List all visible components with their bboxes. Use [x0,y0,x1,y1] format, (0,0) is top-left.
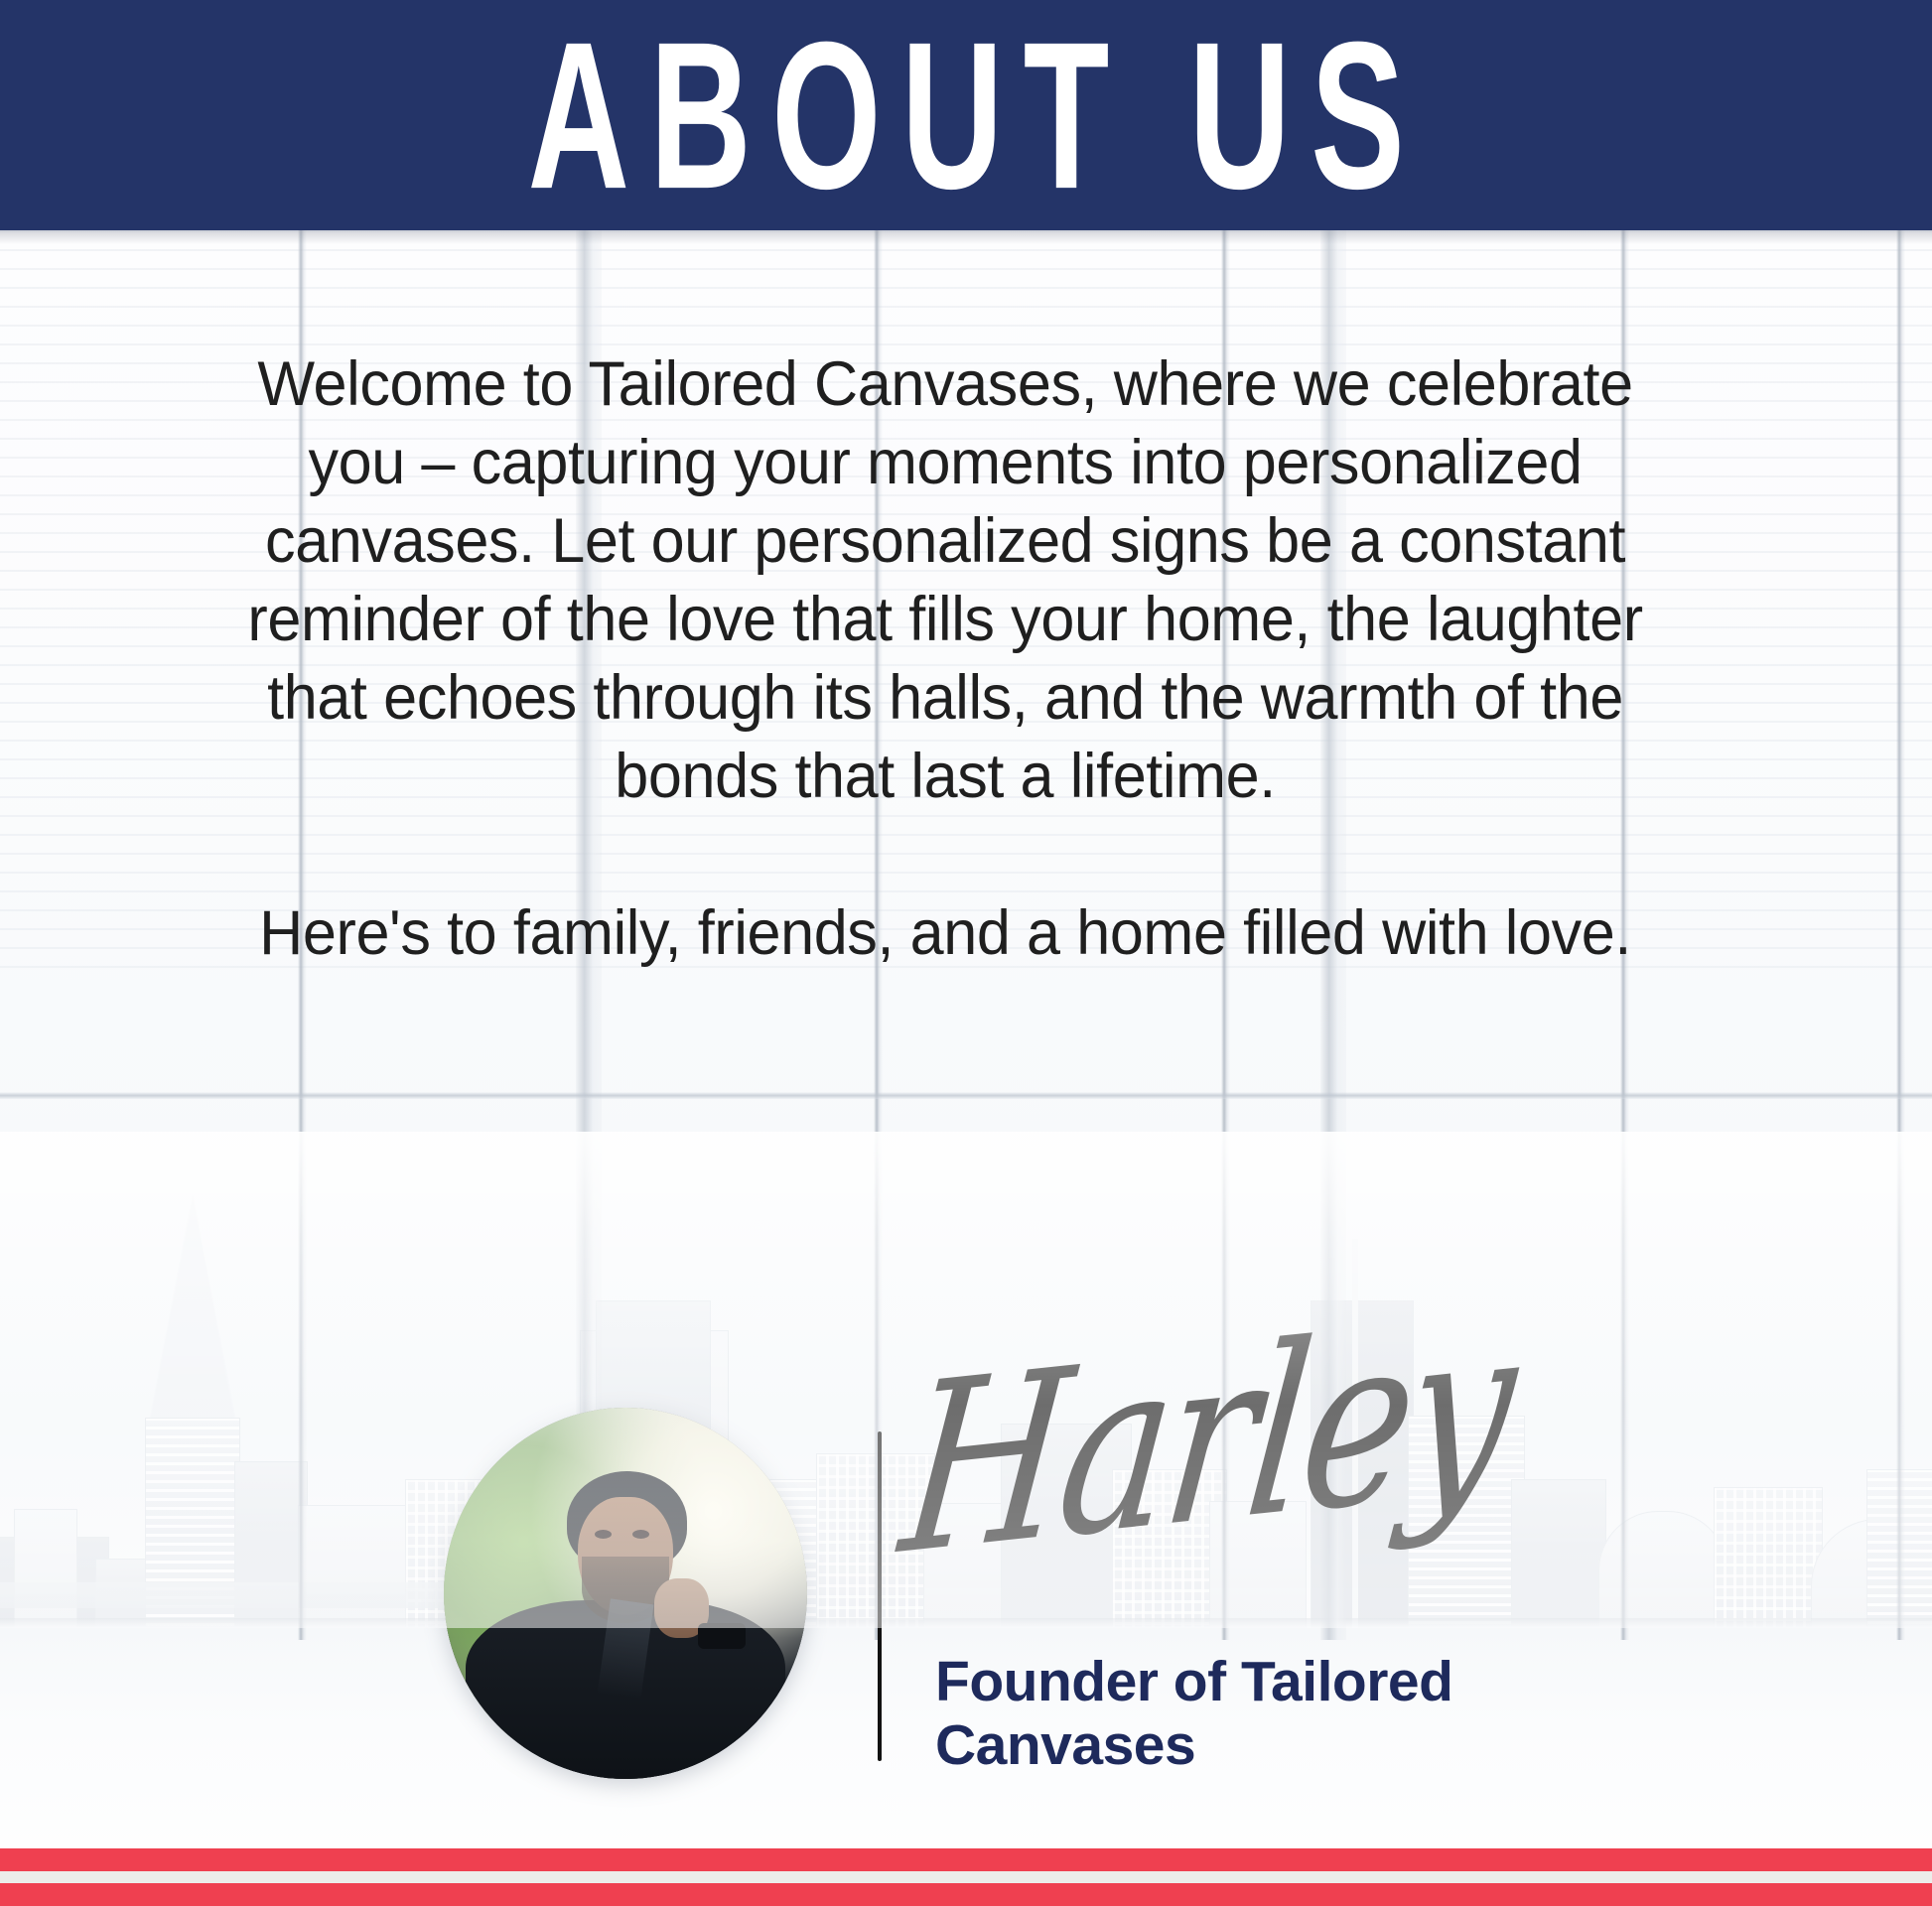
window-transom [0,1092,1932,1099]
founder-title-line-1: Founder of Tailored [935,1650,1690,1713]
cityscape [0,1132,1932,1628]
atmospheric-haze [0,1132,1932,1628]
about-paragraph-2: Here's to family, friends, and a home fi… [208,894,1682,973]
page-title: ABOUT US [507,10,1425,219]
footer-bar-gap [0,1871,1932,1883]
about-paragraph-1: Welcome to Tailored Canvases, where we c… [208,345,1682,816]
founder-title-line-2: Canvases [935,1713,1690,1777]
paragraph-spacer [208,816,1682,894]
about-copy: Welcome to Tailored Canvases, where we c… [208,345,1682,973]
founder-title: Founder of Tailored Canvases [935,1650,1690,1777]
footer-bar-top [0,1848,1932,1871]
about-us-poster: ABOUT US Welcome to Tailored Canvases, w… [0,0,1932,1906]
header-banner: ABOUT US [0,0,1932,230]
footer-bar-bottom [0,1883,1932,1906]
header-drop-shadow [0,230,1932,244]
